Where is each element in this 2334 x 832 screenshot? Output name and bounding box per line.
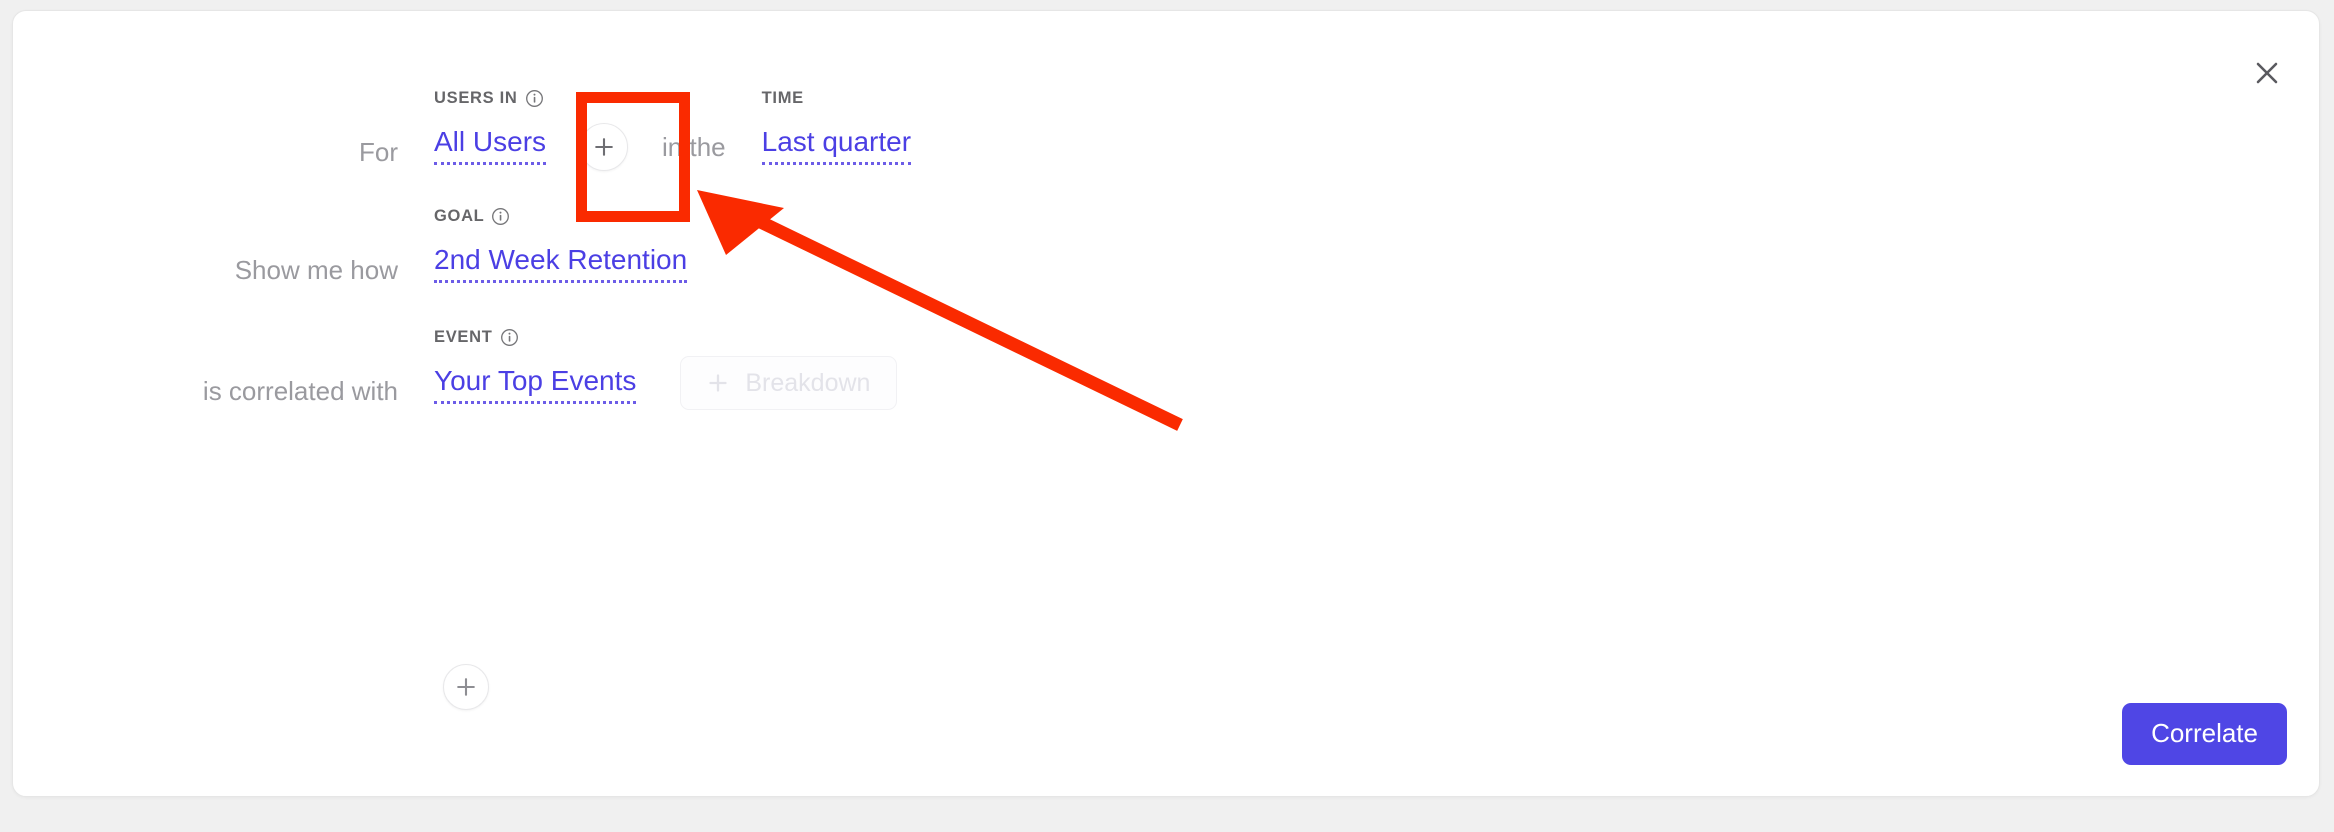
add-breakdown-button[interactable]: Breakdown (680, 356, 897, 410)
add-cohort-button-wrap (580, 123, 628, 171)
users-in-label: USERS IN (434, 89, 518, 108)
info-icon[interactable] (525, 89, 544, 108)
row-prefix-show-me-how: Show me how (13, 257, 398, 293)
time-field: TIME Last quarter (762, 127, 911, 175)
info-icon[interactable] (491, 207, 510, 226)
close-glyph (2254, 60, 2280, 86)
plus-icon (707, 372, 729, 394)
close-icon[interactable] (2245, 51, 2289, 95)
connector-in-the: in the (662, 132, 726, 163)
screen-root: For USERS IN All Users (0, 0, 2334, 832)
row-prefix-is-correlated-with: is correlated with (13, 378, 398, 414)
event-field-group: EVENT Your Top Events Breakdown (434, 356, 897, 414)
time-label: TIME (762, 89, 804, 108)
event-field: EVENT Your Top Events (434, 366, 636, 414)
plus-icon (593, 136, 615, 158)
goal-label: GOAL (434, 207, 484, 226)
goal-value[interactable]: 2nd Week Retention (434, 245, 687, 283)
event-label-row: EVENT (434, 328, 519, 347)
correlation-query-card: For USERS IN All Users (12, 10, 2320, 797)
query-row-event: is correlated with EVENT Your Top Events (13, 340, 897, 414)
correlate-button[interactable]: Correlate (2122, 703, 2287, 765)
breakdown-label: Breakdown (745, 369, 870, 398)
users-in-field: USERS IN All Users (434, 127, 546, 175)
goal-label-row: GOAL (434, 207, 510, 226)
event-value[interactable]: Your Top Events (434, 366, 636, 404)
users-field-group: USERS IN All Users (434, 123, 911, 175)
goal-field-group: GOAL 2nd Week Retention (434, 245, 687, 293)
time-label-row: TIME (762, 89, 804, 108)
plus-icon (455, 676, 477, 698)
add-cohort-button[interactable] (580, 123, 628, 171)
add-query-row-button[interactable] (443, 664, 489, 710)
event-label: EVENT (434, 328, 493, 347)
users-in-value[interactable]: All Users (434, 127, 546, 165)
info-icon[interactable] (500, 328, 519, 347)
goal-field: GOAL 2nd Week Retention (434, 245, 687, 293)
time-value[interactable]: Last quarter (762, 127, 911, 165)
users-in-label-row: USERS IN (434, 89, 544, 108)
query-row-users: For USERS IN All Users (13, 101, 911, 175)
query-row-goal: Show me how GOAL 2nd Week Retention (13, 219, 687, 293)
row-prefix-for: For (13, 139, 398, 175)
